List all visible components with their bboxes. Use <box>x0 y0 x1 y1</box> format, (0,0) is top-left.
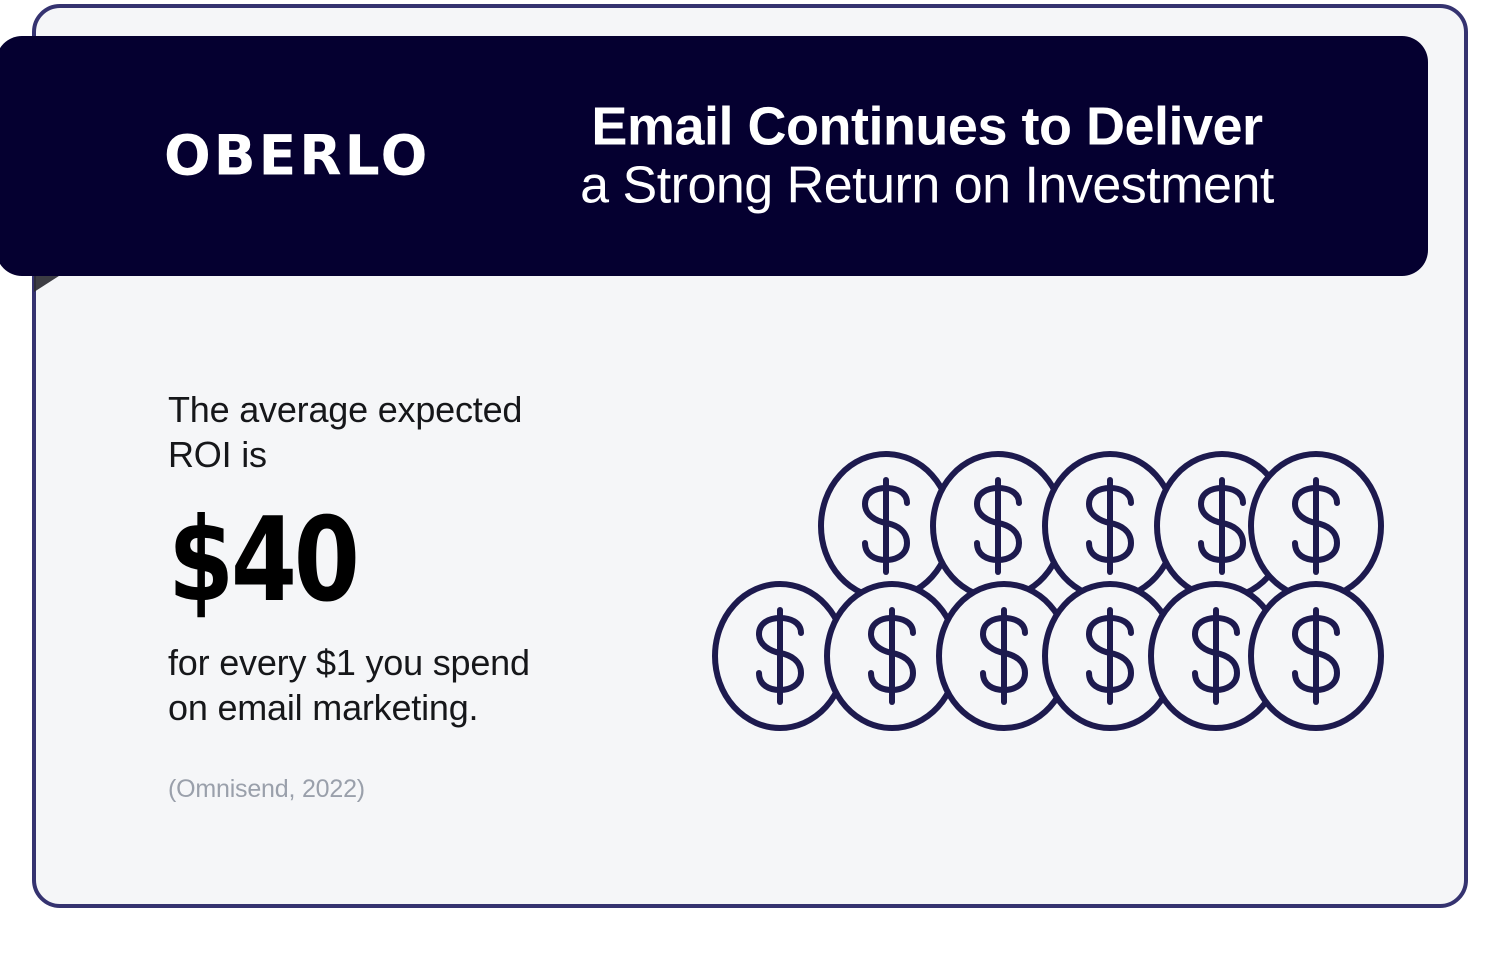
brand-logo: OBERLO <box>164 129 430 184</box>
source-citation: (Omnisend, 2022) <box>168 775 638 804</box>
page-title-line-1: Email Continues to Deliver <box>466 97 1388 157</box>
infographic-card: OBERLO Email Continues to Deliver a Stro… <box>32 4 1468 908</box>
header-banner: OBERLO Email Continues to Deliver a Stro… <box>0 36 1428 276</box>
stat-block: The average expected ROI is $40 for ever… <box>168 388 638 804</box>
page-title: Email Continues to Deliver a Strong Retu… <box>466 97 1388 216</box>
stat-figure-value: $40 <box>168 503 553 619</box>
page-title-line-2: a Strong Return on Investment <box>466 157 1388 215</box>
card-body: The average expected ROI is $40 for ever… <box>36 276 1464 904</box>
coins-bottom-row <box>715 584 1381 728</box>
coins-top-row <box>821 454 1381 598</box>
stat-lead-text: The average expected ROI is <box>168 388 638 477</box>
dollar-coins-illustration <box>708 444 1388 734</box>
stat-trailing-text: for every $1 you spend on email marketin… <box>168 641 638 730</box>
